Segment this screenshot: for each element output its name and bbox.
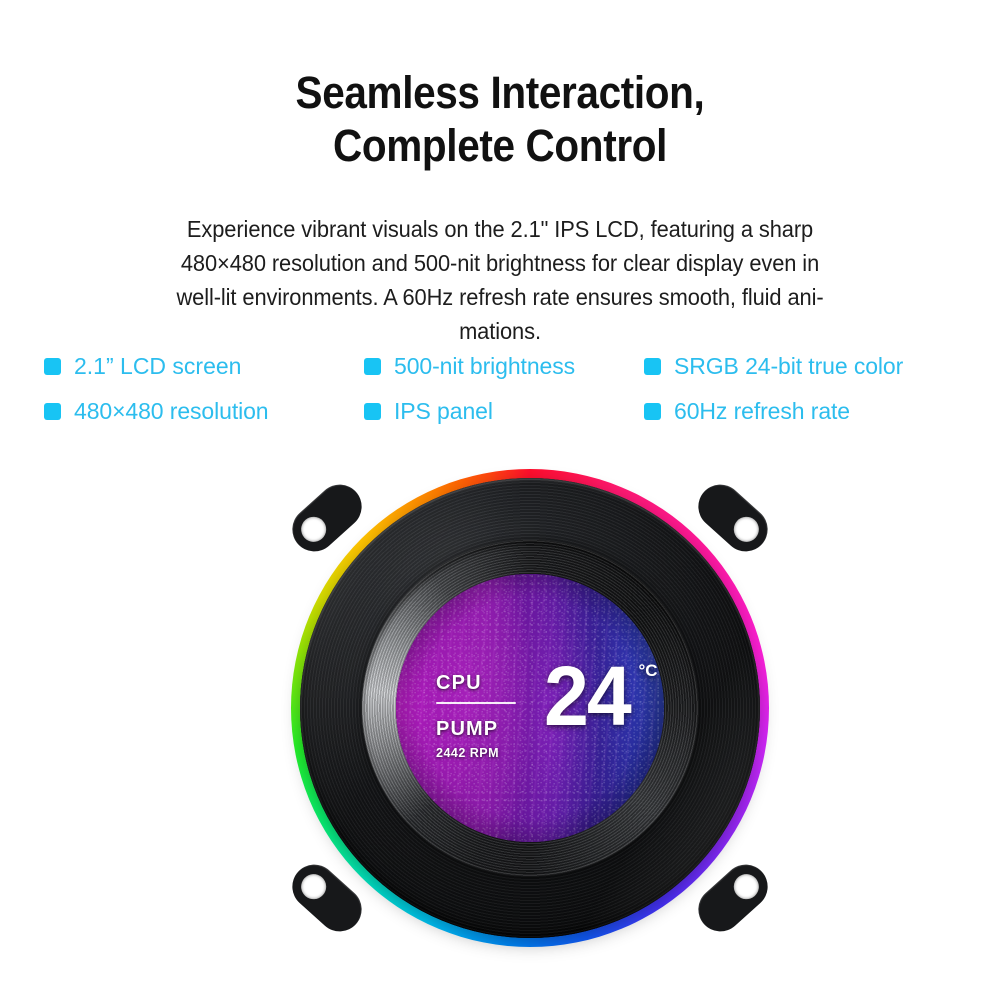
description-line-4: mations.: [35, 314, 965, 348]
feature-item-brightness: 500-nit brightness: [364, 353, 644, 380]
product-feature-page: Seamless Interaction, Complete Control E…: [0, 0, 1000, 1000]
bullet-square-icon: [644, 358, 661, 375]
bullet-square-icon: [44, 403, 61, 420]
bullet-square-icon: [364, 358, 381, 375]
feature-item-true-color: SRGB 24-bit true color: [644, 353, 974, 380]
feature-item-lcd-screen: 2.1” LCD screen: [44, 353, 364, 380]
description-line-2: 480×480 resolution and 500-nit brightnes…: [35, 246, 965, 280]
page-title-line-2: Complete Control: [50, 119, 950, 172]
product-image-cpu-cooler: CPU PUMP 2442 RPM 24 °C: [272, 462, 788, 954]
description-paragraph: Experience vibrant visuals on the 2.1" I…: [35, 212, 965, 348]
feature-item-refresh-rate: 60Hz refresh rate: [644, 398, 974, 425]
pump-label: PUMP: [436, 719, 544, 739]
cpu-temperature-readout: 24 °C: [544, 660, 658, 732]
feature-label: IPS panel: [394, 398, 493, 425]
bullet-square-icon: [364, 403, 381, 420]
feature-item-ips-panel: IPS panel: [364, 398, 644, 425]
bullet-square-icon: [44, 358, 61, 375]
feature-label: 500-nit brightness: [394, 353, 575, 380]
description-line-3: well-lit environments. A 60Hz refresh ra…: [35, 280, 965, 314]
temperature-value: 24: [544, 660, 630, 732]
feature-label: 2.1” LCD screen: [74, 353, 241, 380]
feature-label: 60Hz refresh rate: [674, 398, 850, 425]
lcd-screen[interactable]: CPU PUMP 2442 RPM 24 °C: [396, 574, 664, 842]
feature-spec-list: 2.1” LCD screen 500-nit brightness SRGB …: [44, 344, 974, 434]
description-line-1: Experience vibrant visuals on the 2.1" I…: [35, 212, 965, 246]
feature-label: 480×480 resolution: [74, 398, 269, 425]
lcd-hud-left-column: CPU PUMP 2442 RPM: [436, 673, 544, 760]
bullet-square-icon: [644, 403, 661, 420]
pump-rpm-value: 2442 RPM: [436, 747, 544, 760]
feature-label: SRGB 24-bit true color: [674, 353, 903, 380]
cpu-label: CPU: [436, 673, 544, 693]
hud-divider-rule: [436, 702, 516, 704]
feature-item-resolution: 480×480 resolution: [44, 398, 364, 425]
page-title-line-1: Seamless Interaction,: [50, 66, 950, 119]
lcd-hud: CPU PUMP 2442 RPM 24 °C: [396, 574, 664, 842]
temperature-unit: °C: [638, 662, 657, 679]
page-title: Seamless Interaction, Complete Control: [50, 66, 950, 172]
